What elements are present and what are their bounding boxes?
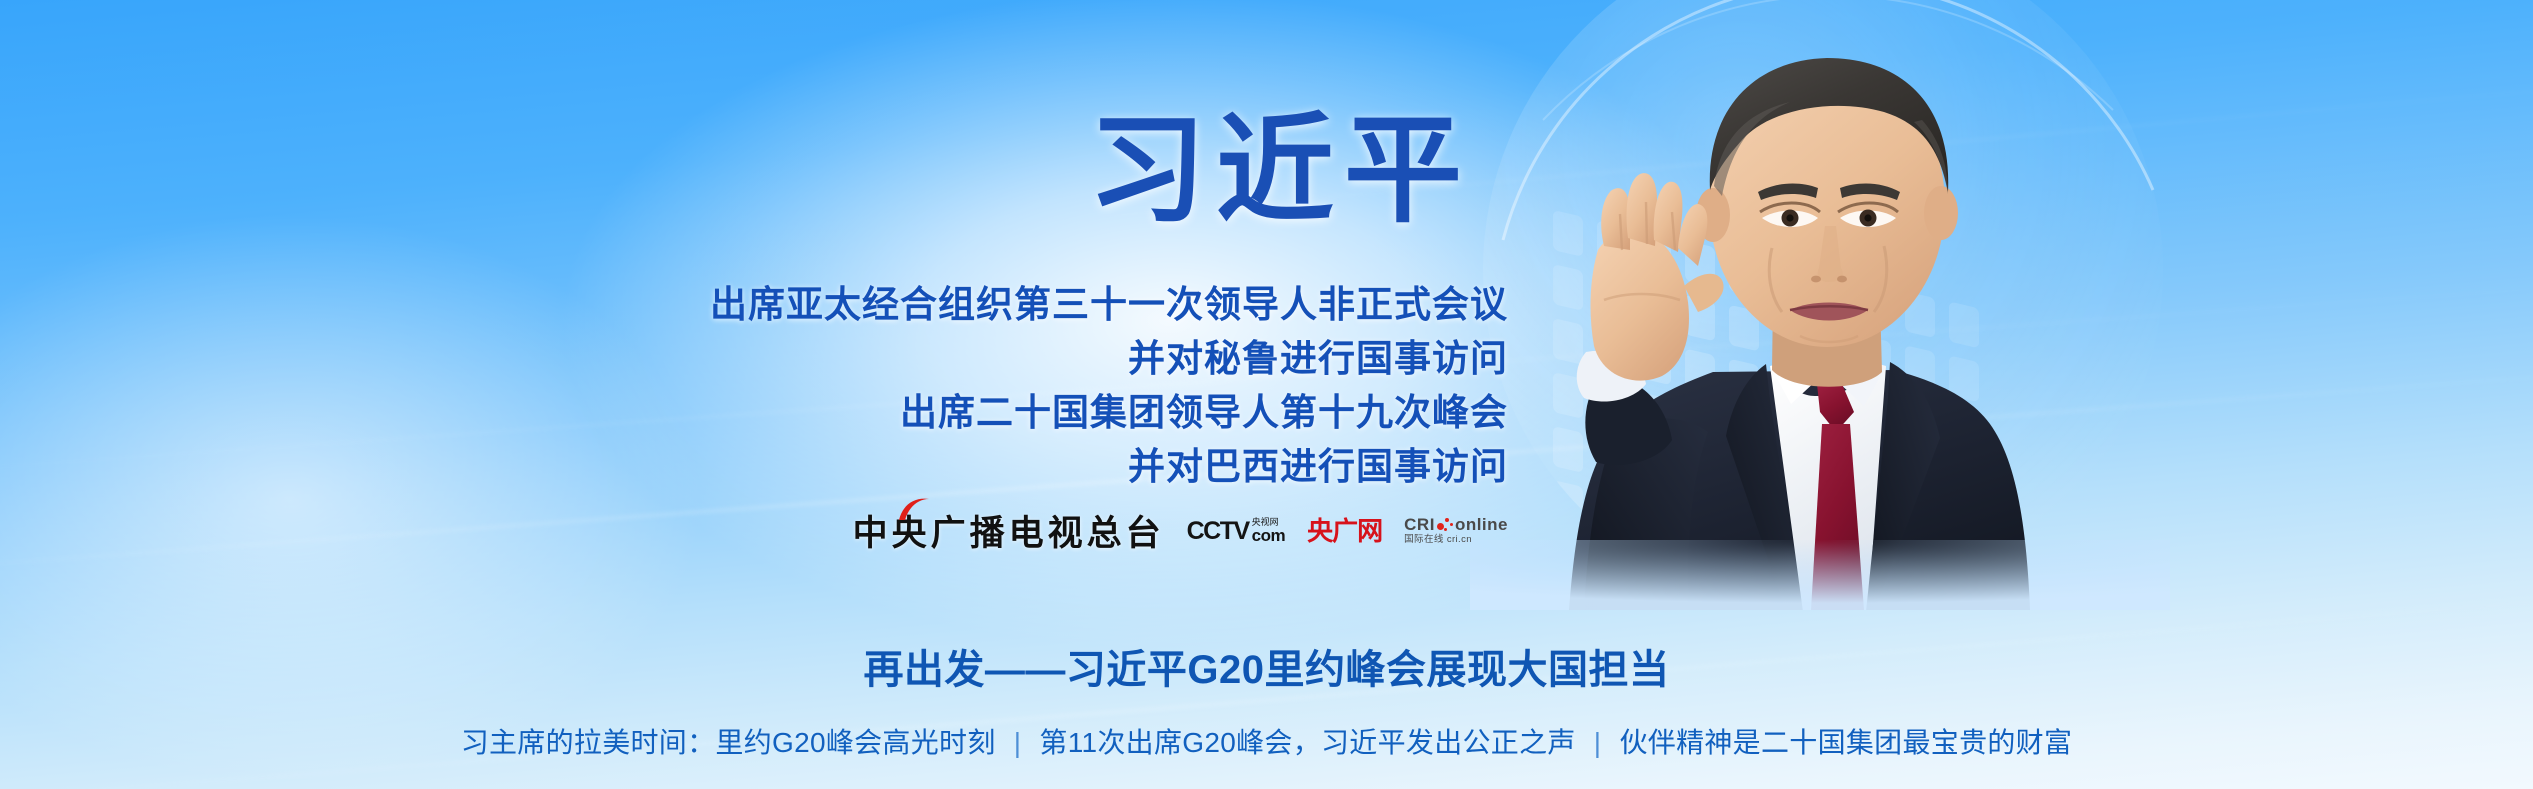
cctv-wordmark: CCTV: [1187, 519, 1249, 544]
cri-chinese-name: 国际在线: [1404, 534, 1444, 545]
subtitle-line-1: 出席亚太经合组织第三十一次领导人非正式会议: [28, 278, 1508, 332]
related-link-3[interactable]: 伙伴精神是二十国集团最宝贵的财富: [1619, 727, 2072, 758]
page-title: 习近平: [1088, 112, 1472, 230]
related-link-1[interactable]: 习主席的拉美时间：里约G20峰会高光时刻: [461, 727, 996, 758]
yangguangwang-logo[interactable]: 央广网: [1307, 512, 1382, 550]
cri-domain: cri.cn: [1447, 534, 1472, 545]
cri-suffix: online: [1455, 516, 1508, 534]
xi-jinping-portrait: [1470, 0, 2170, 610]
headline-block: 习近平 出席亚太经合组织第三十一次领导人非正式会议 并对秘鲁进行国事访问 出席二…: [0, 0, 1520, 600]
cri-wordmark: CRI: [1404, 516, 1435, 534]
news-banner-page: 习近平 出席亚太经合组织第三十一次领导人非正式会议 并对秘鲁进行国事访问 出席二…: [0, 0, 2533, 789]
cri-dots-icon: [1435, 517, 1455, 533]
globe-grid-icon: [1393, 0, 2293, 700]
cctv-swoosh-icon: [897, 496, 931, 522]
subtitle-line-4: 并对巴西进行国事访问: [28, 440, 1508, 494]
bottom-section: 再出发——习近平G20里约峰会展现大国担当 习主席的拉美时间：里约G20峰会高光…: [0, 605, 2533, 789]
subtitle-list: 出席亚太经合组织第三十一次领导人非正式会议 并对秘鲁进行国事访问 出席二十国集团…: [28, 278, 1520, 494]
related-link-2[interactable]: 第11次出席G20峰会，习近平发出公正之声: [1039, 727, 1575, 758]
cctv-com-logo[interactable]: CCTV 央视网 com: [1187, 512, 1286, 550]
cri-online-logo[interactable]: CRI online 国际在线 cri.cn: [1404, 512, 1508, 550]
subtitle-line-2: 并对秘鲁进行国事访问: [28, 332, 1508, 386]
feature-headline[interactable]: 再出发——习近平G20里约峰会展现大国担当: [0, 637, 2533, 695]
link-separator: |: [1004, 727, 1032, 758]
cctv-domain: com: [1252, 527, 1285, 544]
related-links-row: 习主席的拉美时间：里约G20峰会高光时刻 | 第11次出席G20峰会，习近平发出…: [0, 721, 2533, 761]
subtitle-line-3: 出席二十国集团领导人第十九次峰会: [28, 386, 1508, 440]
link-separator: |: [1584, 727, 1612, 758]
yangguangwang-wordmark: 央广网: [1307, 518, 1382, 544]
broadcaster-row: 中央广播电视总台 CCTV 央视网 com 央广网: [853, 505, 1508, 556]
